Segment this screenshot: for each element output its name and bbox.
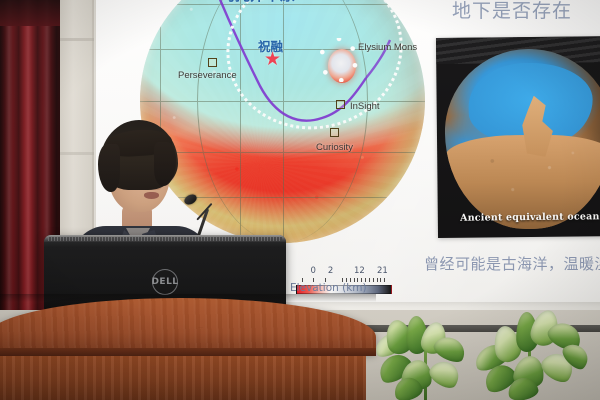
label-curiosity: Curiosity: [316, 142, 353, 153]
hair-side-left: [98, 144, 120, 192]
podium-wood-knots: [17, 308, 345, 342]
presentation-photo: Viking-2 乌托邦平原 祝融 ★ Perseverance Elysium…: [0, 0, 600, 400]
label-elysium-mons: Elysium Mons: [358, 42, 417, 53]
colorbar-tick-labels: 0 2 12 21: [296, 266, 392, 278]
colorbar-tick-0: 0: [311, 266, 316, 276]
ancient-ocean-image: Ancient equivalent ocean: [436, 36, 600, 238]
wall-trim-upper: [56, 38, 94, 41]
dell-logo-text: DELL: [151, 277, 178, 287]
label-perseverance: Perseverance: [178, 70, 237, 81]
colorbar-tick-3: 21: [377, 266, 388, 276]
marker-perseverance: [208, 58, 217, 67]
slide-title-text: 地下是否存在: [452, 0, 600, 23]
slide-caption-text: 曾经可能是古海洋，温暖湿: [424, 253, 600, 274]
colorbar-tick-2: 12: [354, 266, 365, 276]
podium-body-grain: [0, 356, 366, 400]
zhurong-star-icon: ★: [264, 50, 281, 69]
label-insight: InSight: [350, 101, 380, 112]
potted-plant-left: [372, 316, 482, 400]
dell-logo-icon: DELL: [152, 269, 178, 295]
mouth: [144, 192, 159, 199]
podium-edge: [0, 348, 376, 356]
curtain-header: [0, 0, 60, 26]
colorbar-title: Elevation (km): [290, 282, 367, 294]
planet-texture: [444, 48, 600, 230]
marker-insight: [336, 100, 345, 109]
mars-ocean-planet: [444, 48, 600, 230]
ancient-ocean-caption: Ancient equivalent ocean: [438, 211, 600, 224]
podium-body: [0, 356, 366, 400]
marker-curiosity: [330, 128, 339, 137]
label-utopia-planitia: 乌托邦平原: [220, 0, 295, 5]
monitor-vent: [48, 237, 282, 241]
colorbar-tick-1: 2: [328, 266, 333, 276]
potted-plant-right: [470, 306, 596, 400]
